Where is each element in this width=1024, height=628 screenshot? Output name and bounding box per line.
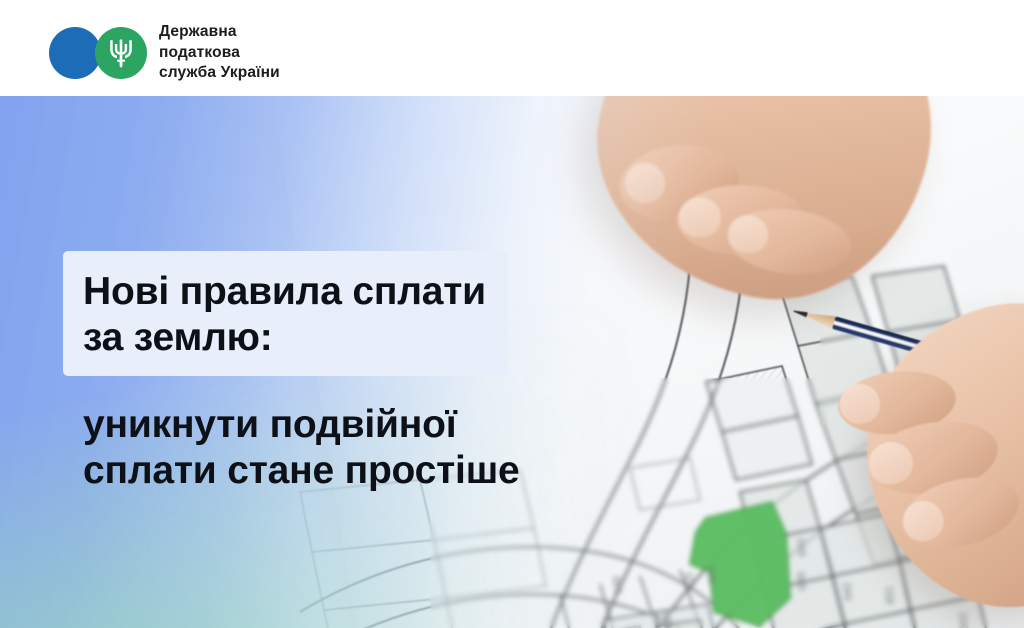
header-bar: Державна податкова служба України [0, 0, 1024, 96]
svg-text:625: 625 [683, 571, 697, 591]
logo-circles [49, 27, 147, 79]
svg-text:626: 626 [705, 565, 719, 585]
svg-text:650: 650 [661, 609, 675, 628]
ukrainian-trident-icon [95, 27, 147, 79]
headline-secondary: уникнути подвійної сплати стане простіше [63, 402, 683, 493]
headline-block: Нові правила сплати за землю: уникнути п… [63, 251, 683, 494]
logo-wordmark: Державна податкова служба України [159, 22, 280, 84]
wordmark-line-3: служба України [159, 63, 280, 84]
organization-logo[interactable]: Державна податкова служба України [49, 22, 280, 84]
wordmark-line-2: податкова [159, 43, 280, 64]
svg-text:642: 642 [841, 581, 855, 601]
svg-text:188: 188 [611, 575, 625, 595]
banner-visual-area: 188 650 625 626 649 642 651 643 629 602 … [0, 96, 1024, 628]
poster-canvas: 188 650 625 626 649 642 651 643 629 602 … [0, 0, 1024, 628]
svg-text:651: 651 [883, 585, 897, 605]
logo-blue-circle-icon [49, 27, 101, 79]
svg-text:602: 602 [957, 611, 971, 628]
headline-primary: Нові правила сплати за землю: [63, 251, 508, 376]
svg-text:649: 649 [795, 571, 809, 591]
wordmark-line-1: Державна [159, 22, 280, 43]
svg-text:643: 643 [795, 537, 809, 557]
